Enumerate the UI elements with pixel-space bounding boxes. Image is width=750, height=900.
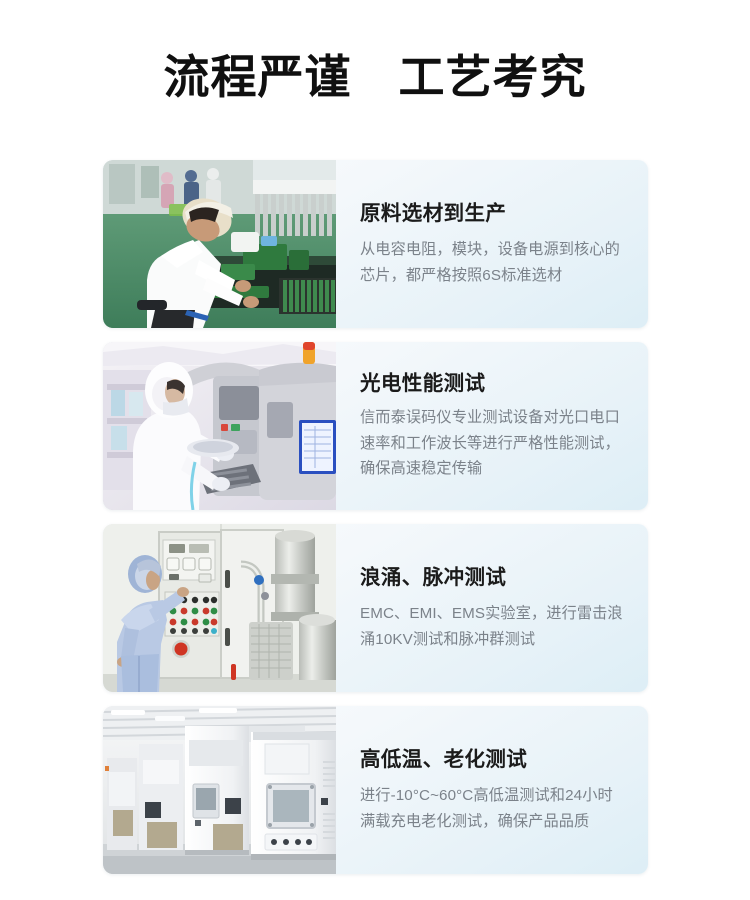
card-title: 浪涌、脉冲测试 xyxy=(360,564,626,592)
card-description: 信而泰误码仪专业测试设备对光口电口速率和工作波长等进行严格性能测试，确保高速稳定… xyxy=(360,405,626,482)
card-text: 高低温、老化测试 进行-10°C~60°C高低温测试和24小时满载充电老化测试，… xyxy=(336,706,648,874)
feature-card[interactable]: 光电性能测试 信而泰误码仪专业测试设备对光口电口速率和工作波长等进行严格性能测试… xyxy=(103,342,648,510)
card-description: 进行-10°C~60°C高低温测试和24小时满载充电老化测试，确保产品品质 xyxy=(360,783,626,835)
photo-cleanroom-optical-test-graphic xyxy=(103,342,336,510)
card-description: EMC、EMI、EMS实验室，进行雷击浪涌10KV测试和脉冲群测试 xyxy=(360,601,626,653)
page-root: 流程严谨 工艺考究 xyxy=(0,0,750,900)
card-text: 光电性能测试 信而泰误码仪专业测试设备对光口电口速率和工作波长等进行严格性能测试… xyxy=(336,342,648,510)
photo-aging-test-chambers xyxy=(103,706,336,874)
card-title: 原料选材到生产 xyxy=(360,200,626,228)
photo-aging-test-chambers-graphic xyxy=(103,706,336,874)
card-text: 原料选材到生产 从电容电阻，模块，设备电源到核心的芯片，都严格按照6S标准选材 xyxy=(336,160,648,328)
feature-card[interactable]: 原料选材到生产 从电容电阻，模块，设备电源到核心的芯片，都严格按照6S标准选材 xyxy=(103,160,648,328)
page-title: 流程严谨 工艺考究 xyxy=(0,48,750,106)
feature-card[interactable]: 高低温、老化测试 进行-10°C~60°C高低温测试和24小时满载充电老化测试，… xyxy=(103,706,648,874)
card-description: 从电容电阻，模块，设备电源到核心的芯片，都严格按照6S标准选材 xyxy=(360,237,626,289)
photo-surge-pulse-lab xyxy=(103,524,336,692)
photo-pcb-assembly-line-graphic xyxy=(103,160,336,328)
feature-card-list: 原料选材到生产 从电容电阻，模块，设备电源到核心的芯片，都严格按照6S标准选材 xyxy=(103,160,648,874)
photo-surge-pulse-lab-graphic xyxy=(103,524,336,692)
card-title: 高低温、老化测试 xyxy=(360,746,626,774)
feature-card[interactable]: 浪涌、脉冲测试 EMC、EMI、EMS实验室，进行雷击浪涌10KV测试和脉冲群测… xyxy=(103,524,648,692)
photo-pcb-assembly-line xyxy=(103,160,336,328)
card-title: 光电性能测试 xyxy=(360,370,626,398)
photo-cleanroom-optical-test xyxy=(103,342,336,510)
card-text: 浪涌、脉冲测试 EMC、EMI、EMS实验室，进行雷击浪涌10KV测试和脉冲群测… xyxy=(336,524,648,692)
